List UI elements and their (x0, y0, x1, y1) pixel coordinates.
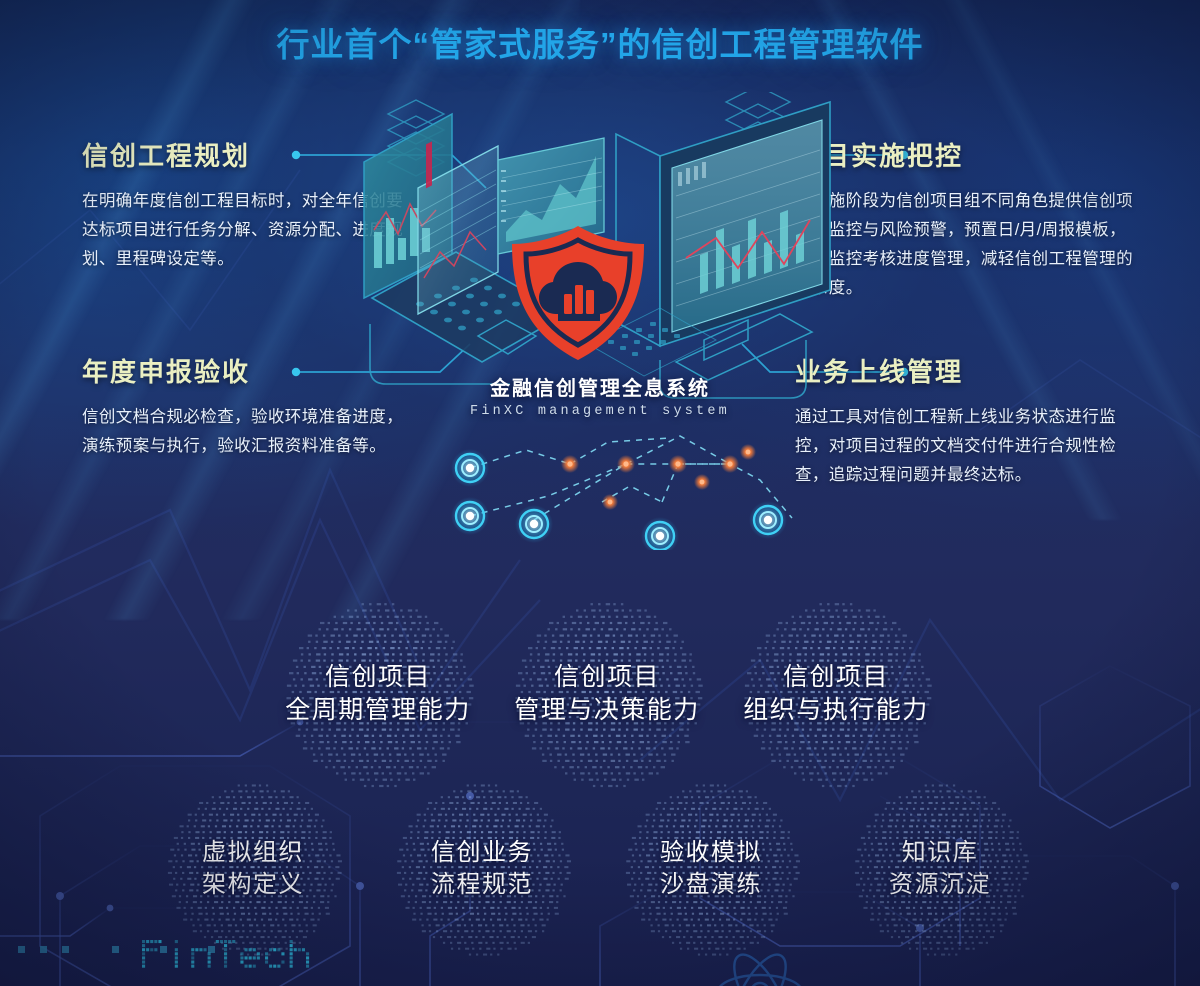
sphere-label-line1: 知识库 (889, 837, 991, 869)
sphere-label-line2: 管理与决策能力 (514, 694, 700, 727)
feature-heading: 项目实施把控 (795, 136, 1140, 173)
node-network (430, 420, 850, 550)
capability-sphere: 信创项目 全周期管理能力 (278, 594, 478, 794)
sphere-label-line2: 组织与执行能力 (743, 694, 929, 727)
sphere-label-line2: 全周期管理能力 (285, 694, 471, 727)
sphere-label-line1: 信创项目 (285, 661, 471, 694)
center-system-label: 金融信创管理全息系统 FinXC management system (0, 372, 1200, 419)
sphere-label: 信创项目 组织与执行能力 (743, 661, 929, 727)
fintech-watermark (140, 930, 330, 976)
sphere-label: 信创项目 管理与决策能力 (514, 661, 700, 727)
sphere-label-line1: 信创项目 (743, 661, 929, 694)
sphere-label-line1: 验收模拟 (660, 837, 762, 869)
sphere-label: 信创项目 全周期管理能力 (285, 661, 471, 727)
system-name-cn: 金融信创管理全息系统 (0, 372, 1200, 401)
sphere-label: 信创业务 流程规范 (431, 837, 533, 900)
sphere-label-line2: 沙盘演练 (660, 869, 762, 901)
feature-block-implementation: 项目实施把控 在实施阶段为信创项目组不同角色提供信创项目的监控与风险预警，预置日… (795, 136, 1140, 303)
capability-sphere: 信创项目 管理与决策能力 (507, 594, 707, 794)
infographic-poster: 行业首个“管家式服务”的信创工程管理软件 信创工程规划 在明确年度信创工程目标时… (0, 0, 1200, 986)
sphere-label: 虚拟组织 架构定义 (202, 837, 304, 900)
sphere-label-line2: 资源沉淀 (889, 869, 991, 901)
sphere-label: 验收模拟 沙盘演练 (660, 837, 762, 900)
sphere-label-line1: 虚拟组织 (202, 837, 304, 869)
sphere-label: 知识库 资源沉淀 (889, 837, 991, 900)
system-name-en: FinXC management system (0, 404, 1200, 419)
module-sphere: 知识库 资源沉淀 (847, 776, 1033, 962)
sphere-label-line2: 流程规范 (431, 869, 533, 901)
feature-body: 在实施阶段为信创项目组不同角色提供信创项目的监控与风险预警，预置日/月/周报模板… (795, 187, 1140, 303)
shield-cloud-chart-icon (512, 226, 644, 360)
page-title: 行业首个“管家式服务”的信创工程管理软件 (0, 18, 1200, 66)
atom-icon (700, 932, 820, 986)
sphere-label-line1: 信创项目 (514, 661, 700, 694)
sphere-label-line2: 架构定义 (202, 869, 304, 901)
module-sphere: 信创业务 流程规范 (389, 776, 575, 962)
sphere-label-line1: 信创业务 (431, 837, 533, 869)
capability-sphere: 信创项目 组织与执行能力 (736, 594, 936, 794)
